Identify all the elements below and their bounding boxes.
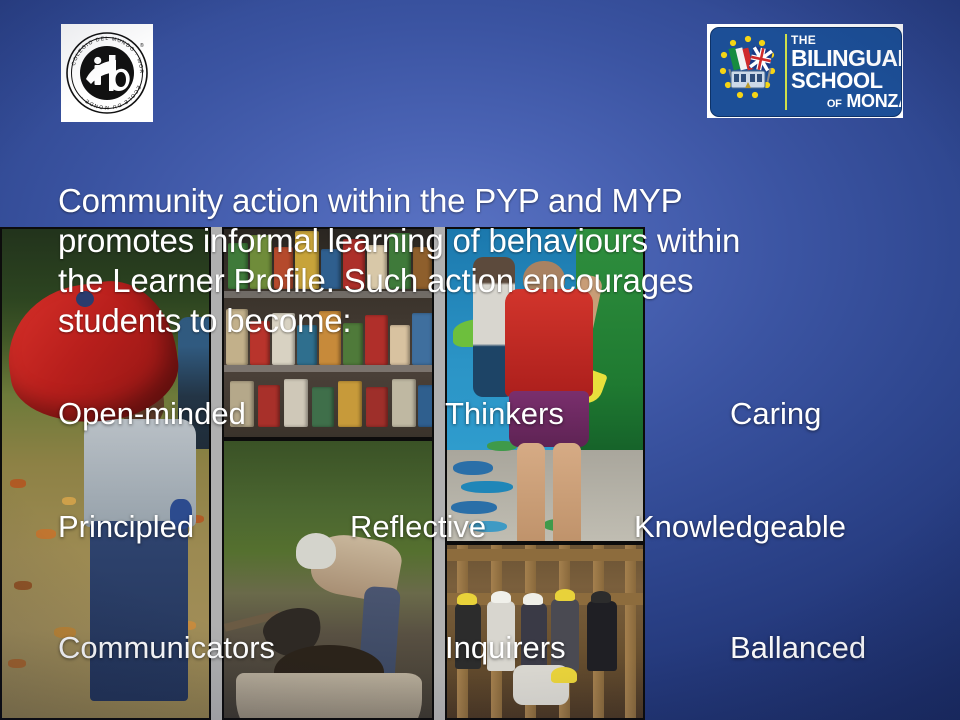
monza-emblem-graphic bbox=[711, 28, 785, 114]
monza-emblem bbox=[711, 28, 785, 116]
learner-profile-row-3: Communicators Inquirers Ballanced bbox=[0, 626, 960, 670]
wheelbarrow bbox=[236, 673, 422, 720]
ib-logo-graphic: COLEGIO DEL MUNDO · WORLD SCHOOL ÉCOLE D… bbox=[64, 27, 150, 119]
learner-profile-row-2: Principled Reflective Knowledgeable bbox=[0, 505, 960, 549]
presentation-slide: COLEGIO DEL MUNDO · WORLD SCHOOL ÉCOLE D… bbox=[0, 0, 960, 720]
monza-wordmark: THE BILINGUAL SCHOOL OF MONZA bbox=[791, 34, 902, 110]
monza-logo-badge: THE BILINGUAL SCHOOL OF MONZA bbox=[710, 27, 902, 117]
learner-attribute-communicators: Communicators bbox=[58, 626, 275, 670]
learner-profile-row-1: Open-minded Thinkers Caring bbox=[0, 392, 960, 436]
photo-shoveling-soil-into-wheelbarrow bbox=[222, 439, 434, 720]
learner-attribute-ballanced: Ballanced bbox=[730, 626, 866, 670]
learner-attribute-principled: Principled bbox=[58, 505, 194, 549]
learner-attribute-inquirers: Inquirers bbox=[445, 626, 566, 670]
monza-line-monza: OF MONZA bbox=[791, 92, 902, 110]
bilingual-school-of-monza-logo: THE BILINGUAL SCHOOL OF MONZA bbox=[707, 24, 903, 118]
learner-attribute-knowledgeable: Knowledgeable bbox=[634, 505, 846, 549]
slide-headline: Community action within the PYP and MYP … bbox=[58, 181, 918, 341]
learner-attribute-caring: Caring bbox=[730, 392, 821, 436]
learner-attribute-reflective: Reflective bbox=[350, 505, 486, 549]
learner-attribute-thinkers: Thinkers bbox=[445, 392, 564, 436]
school-building-icon bbox=[731, 71, 765, 88]
learner-attribute-open-minded: Open-minded bbox=[58, 392, 246, 436]
ib-world-school-logo: COLEGIO DEL MUNDO · WORLD SCHOOL ÉCOLE D… bbox=[61, 24, 153, 122]
monza-line-bilingual: BILINGUAL bbox=[791, 47, 902, 70]
monza-line-school: SCHOOL bbox=[791, 70, 902, 92]
monza-line-of: OF bbox=[827, 98, 842, 110]
monza-divider bbox=[785, 34, 787, 110]
registered-mark-icon: ® bbox=[140, 42, 144, 49]
